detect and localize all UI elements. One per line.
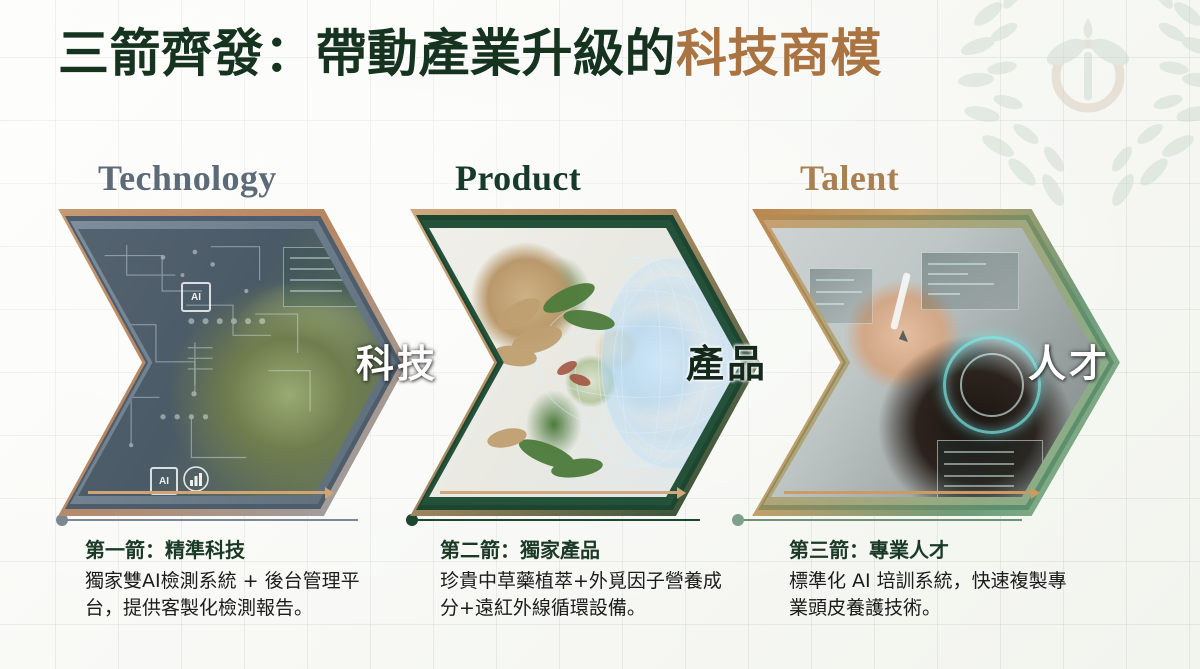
pillar-heading-technology: Technology xyxy=(98,157,277,199)
bar-chart-icon xyxy=(182,465,210,493)
connector-line-product xyxy=(412,519,700,521)
caption-title: 第一箭：精準科技 xyxy=(85,538,385,563)
caption-title: 第三箭：專業人才 xyxy=(789,538,1089,563)
connector-line-talent xyxy=(738,519,1022,521)
caption-talent: 第三箭：專業人才 標準化 AI 培訓系統，快速複製專業頭皮養護技術。 xyxy=(789,538,1089,622)
progress-arrow-icon xyxy=(440,491,680,494)
caption-title: 第二箭：獨家產品 xyxy=(440,538,740,563)
caption-body: 珍貴中草藥植萃+外覓因子營養成分+遠紅外線循環設備。 xyxy=(440,568,732,622)
caption-technology: 第一箭：精準科技 獨家雙AI檢測系統 + 後台管理平台，提供客製化檢測報告。 xyxy=(85,538,385,622)
page-title-accent: 科技商模 xyxy=(676,25,882,84)
overlay-word-product: 產品 xyxy=(686,333,768,388)
herb-leaves-illustration xyxy=(485,258,635,508)
progress-arrow-icon xyxy=(88,491,328,494)
page-title: 三箭齊發：帶動產業升級的科技商模 xyxy=(58,28,882,82)
pen-icon xyxy=(879,268,923,348)
ai-chip-icon xyxy=(181,282,211,312)
page-title-main: 三箭齊發：帶動產業升級的 xyxy=(58,25,676,84)
connector-line-technology xyxy=(62,519,358,521)
caption-body: 獨家雙AI檢測系統 + 後台管理平台，提供客製化檢測報告。 xyxy=(85,568,377,622)
pillar-heading-product: Product xyxy=(455,157,581,199)
caption-product: 第二箭：獨家產品 珍貴中草藥植萃+外覓因子營養成分+遠紅外線循環設備。 xyxy=(440,538,740,622)
connector-dot-icon xyxy=(732,514,744,526)
hud-ring-icon xyxy=(943,336,1041,434)
progress-arrow-icon xyxy=(784,491,1034,494)
overlay-word-talent: 人才 xyxy=(1028,333,1110,388)
overlay-word-technology: 科技 xyxy=(356,333,438,388)
laurel-sprout-watermark xyxy=(958,0,1200,244)
hud-panel-icon xyxy=(921,252,1019,310)
caption-body: 標準化 AI 培訓系統，快速複製專業頭皮養護技術。 xyxy=(789,568,1081,622)
slide-canvas: 三箭齊發：帶動產業升級的科技商模 Technology Product Tale… xyxy=(0,0,1200,669)
pillar-heading-talent: Talent xyxy=(800,157,899,199)
